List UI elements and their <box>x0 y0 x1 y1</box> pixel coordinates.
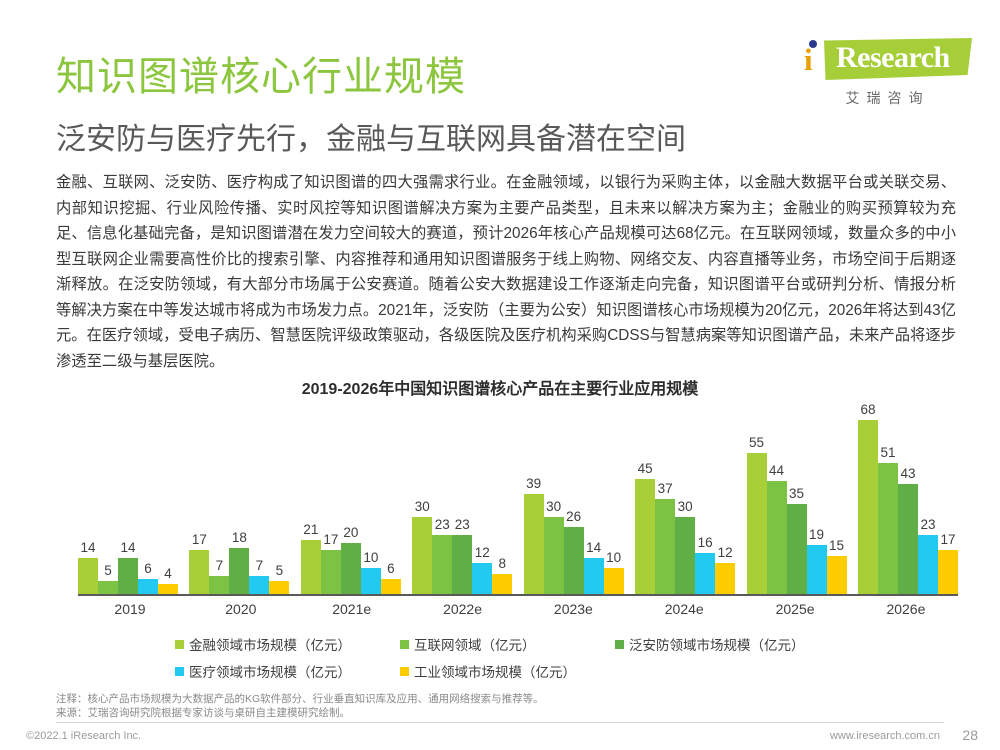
chart-bar-column[interactable]: 51 <box>878 402 898 594</box>
chart-bar-value-label: 12 <box>475 545 490 560</box>
chart-bar-column[interactable]: 30 <box>544 402 564 594</box>
chart-notes: 注释：核心产品市场规模为大数据产品的KG软件部分、行业垂直知识库及应用、通用网络… <box>56 692 544 720</box>
chart-bar[interactable] <box>432 535 452 594</box>
chart-x-label: 2024e <box>632 601 736 617</box>
legend-label: 工业领域市场规模（亿元） <box>414 661 576 681</box>
chart-bar-column[interactable]: 10 <box>361 402 381 594</box>
chart-group: 211720106 <box>301 402 401 594</box>
logo-wordmark: Research <box>836 41 950 75</box>
chart-bar-column[interactable]: 30 <box>675 402 695 594</box>
chart-bar[interactable] <box>269 581 289 594</box>
logo-letter-i: i <box>804 44 813 75</box>
chart-legend-row: 金融领域市场规模（亿元）互联网领域（亿元）泛安防领域市场规模（亿元） <box>175 634 835 654</box>
chart-group: 4537301612 <box>635 402 735 594</box>
chart-bar[interactable] <box>524 494 544 594</box>
chart-bar[interactable] <box>878 463 898 594</box>
chart-bar-value-label: 5 <box>104 563 112 578</box>
legend-swatch-icon <box>175 640 184 649</box>
chart-bar-column[interactable]: 10 <box>604 402 624 594</box>
chart-bar[interactable] <box>918 535 938 594</box>
chart-bar-value-label: 19 <box>809 527 824 542</box>
chart-bar[interactable] <box>301 540 321 594</box>
chart-bar-value-label: 21 <box>303 522 318 537</box>
chart-x-label: 2022e <box>411 601 515 617</box>
chart-bar-column[interactable]: 45 <box>635 402 655 594</box>
chart-bar-column[interactable]: 14 <box>78 402 98 594</box>
chart-bar[interactable] <box>938 550 958 594</box>
chart-bar-column[interactable]: 17 <box>321 402 341 594</box>
chart-bar[interactable] <box>787 504 807 594</box>
chart-bar[interactable] <box>361 568 381 594</box>
chart-bar-column[interactable]: 19 <box>807 402 827 594</box>
legend-label: 泛安防领域市场规模（亿元） <box>629 634 805 654</box>
chart-group: 302323128 <box>412 402 512 594</box>
chart-bar[interactable] <box>138 579 158 594</box>
chart-bar[interactable] <box>747 453 767 594</box>
chart-bar-column[interactable]: 30 <box>412 402 432 594</box>
slide-page: i Research 艾瑞咨询 知识图谱核心行业规模 泛安防与医疗先行，金融与互… <box>0 0 1000 750</box>
chart-bar-column[interactable]: 16 <box>695 402 715 594</box>
chart-bar-value-label: 8 <box>499 556 507 571</box>
chart-bar-column[interactable]: 20 <box>341 402 361 594</box>
chart-bar-column[interactable]: 14 <box>118 402 138 594</box>
chart-bar[interactable] <box>807 545 827 594</box>
chart-legend-item[interactable]: 金融领域市场规模（亿元） <box>175 634 400 654</box>
body-paragraph: 金融、互联网、泛安防、医疗构成了知识图谱的四大强需求行业。在金融领域，以银行为采… <box>56 170 956 374</box>
chart-legend-item[interactable]: 泛安防领域市场规模（亿元） <box>615 634 835 654</box>
chart-bar[interactable] <box>118 558 138 594</box>
chart-bar-column[interactable]: 37 <box>655 402 675 594</box>
page-subtitle: 泛安防与医疗先行，金融与互联网具备潜在空间 <box>56 114 686 158</box>
chart-bar-column[interactable]: 17 <box>189 402 209 594</box>
chart-x-label: 2020 <box>189 601 293 617</box>
chart-bar[interactable] <box>321 550 341 594</box>
chart-bar[interactable] <box>229 548 249 594</box>
chart-group: 3930261410 <box>524 402 624 594</box>
footer-divider <box>56 722 944 723</box>
legend-swatch-icon <box>175 667 184 676</box>
chart-group: 1771875 <box>189 402 289 594</box>
chart-bar[interactable] <box>564 527 584 594</box>
chart-bar-column[interactable]: 7 <box>209 402 229 594</box>
chart-bar[interactable] <box>452 535 472 594</box>
chart-bar-value-label: 23 <box>435 517 450 532</box>
legend-swatch-icon <box>400 640 409 649</box>
chart-bar-column[interactable]: 14 <box>584 402 604 594</box>
chart-group: 5544351915 <box>747 402 847 594</box>
chart-x-label: 2026e <box>854 601 958 617</box>
chart-bar[interactable] <box>635 479 655 594</box>
chart-bar[interactable] <box>604 568 624 594</box>
chart-bar[interactable] <box>209 576 229 594</box>
chart-bar-value-label: 15 <box>829 538 844 553</box>
chart-bar-value-label: 14 <box>586 540 601 555</box>
chart-x-axis <box>78 594 958 596</box>
chart-bar-value-label: 18 <box>232 530 247 545</box>
chart-bar-value-label: 26 <box>566 509 581 524</box>
chart-bar-column[interactable]: 17 <box>938 402 958 594</box>
chart-bar-column[interactable]: 43 <box>898 402 918 594</box>
chart-bar-value-label: 35 <box>789 486 804 501</box>
chart-bar-column[interactable]: 15 <box>827 402 847 594</box>
chart-bar-column[interactable]: 12 <box>472 402 492 594</box>
chart-legend-item[interactable]: 医疗领域市场规模（亿元） <box>175 661 400 681</box>
chart-bar-value-label: 51 <box>880 445 895 460</box>
chart-bar-column[interactable]: 6 <box>381 402 401 594</box>
note-line: 注释：核心产品市场规模为大数据产品的KG软件部分、行业垂直知识库及应用、通用网络… <box>56 692 544 706</box>
chart-bar[interactable] <box>655 499 675 594</box>
chart-x-label: 2023e <box>521 601 625 617</box>
chart-bar-column[interactable]: 5 <box>98 402 118 594</box>
chart-bar-column[interactable]: 23 <box>432 402 452 594</box>
chart-title: 2019-2026年中国知识图谱核心产品在主要行业应用规模 <box>0 375 1000 399</box>
chart-bar-value-label: 30 <box>546 499 561 514</box>
chart-bar[interactable] <box>78 558 98 594</box>
chart-bar-value-label: 12 <box>718 545 733 560</box>
chart-bar-value-label: 30 <box>415 499 430 514</box>
chart-bar[interactable] <box>858 420 878 594</box>
chart-bar[interactable] <box>492 574 512 594</box>
legend-swatch-icon <box>615 640 624 649</box>
chart-bar[interactable] <box>158 584 178 594</box>
logo-chinese-name: 艾瑞咨询 <box>796 88 972 108</box>
chart-legend-item[interactable]: 互联网领域（亿元） <box>400 634 615 654</box>
chart-x-label: 2025e <box>743 601 847 617</box>
chart-bar[interactable] <box>695 553 715 594</box>
chart-bar-column[interactable]: 55 <box>747 402 767 594</box>
chart-bar[interactable] <box>544 517 564 594</box>
chart-bar-value-label: 39 <box>526 476 541 491</box>
chart-group: 1451464 <box>78 402 178 594</box>
chart-bar-value-label: 37 <box>658 481 673 496</box>
chart-bar-value-label: 43 <box>900 466 915 481</box>
bar-chart: 1451464177187521172010630232312839302614… <box>78 402 958 594</box>
chart-bar-column[interactable]: 68 <box>858 402 878 594</box>
chart-x-tick-labels: 201920202021e2022e2023e2024e2025e2026e <box>78 601 958 617</box>
chart-bar-column[interactable]: 44 <box>767 402 787 594</box>
chart-bar-value-label: 23 <box>455 517 470 532</box>
chart-bar[interactable] <box>767 481 787 594</box>
chart-bar-value-label: 5 <box>276 563 284 578</box>
chart-bar[interactable] <box>98 581 118 594</box>
chart-bar-column[interactable]: 23 <box>918 402 938 594</box>
chart-legend-row: 医疗领域市场规模（亿元）工业领域市场规模（亿元） <box>175 661 835 681</box>
chart-bar-value-label: 7 <box>216 558 224 573</box>
chart-bar-value-label: 14 <box>80 540 95 555</box>
chart-bar[interactable] <box>189 550 209 594</box>
chart-bar-value-label: 20 <box>343 525 358 540</box>
chart-bar-value-label: 10 <box>606 550 621 565</box>
chart-bar-value-label: 14 <box>120 540 135 555</box>
chart-legend: 金融领域市场规模（亿元）互联网领域（亿元）泛安防领域市场规模（亿元）医疗领域市场… <box>175 634 835 688</box>
chart-bar-column[interactable]: 26 <box>564 402 584 594</box>
chart-bar-column[interactable]: 35 <box>787 402 807 594</box>
chart-bar-value-label: 44 <box>769 463 784 478</box>
chart-bar-column[interactable]: 4 <box>158 402 178 594</box>
chart-bar-column[interactable]: 18 <box>229 402 249 594</box>
chart-bar-column[interactable]: 5 <box>269 402 289 594</box>
logo-mark: i Research <box>796 34 972 84</box>
page-title: 知识图谱核心行业规模 <box>56 44 466 102</box>
chart-bar-value-label: 10 <box>363 550 378 565</box>
chart-bar[interactable] <box>827 556 847 594</box>
legend-label: 医疗领域市场规模（亿元） <box>189 661 351 681</box>
footer-website: www.iresearch.com.cn <box>830 730 940 742</box>
chart-bar[interactable] <box>715 563 735 594</box>
chart-bar[interactable] <box>898 484 918 594</box>
chart-bar[interactable] <box>584 558 604 594</box>
chart-bar[interactable] <box>249 576 269 594</box>
chart-bar-column[interactable]: 7 <box>249 402 269 594</box>
footer-copyright: ©2022.1 iResearch Inc. <box>26 730 141 742</box>
chart-bar-column[interactable]: 12 <box>715 402 735 594</box>
page-number: 28 <box>962 727 978 743</box>
legend-swatch-icon <box>400 667 409 676</box>
chart-bar-column[interactable]: 23 <box>452 402 472 594</box>
chart-bar-column[interactable]: 21 <box>301 402 321 594</box>
chart-x-label: 2021e <box>300 601 404 617</box>
chart-bar-value-label: 17 <box>323 532 338 547</box>
chart-bar-value-label: 45 <box>638 461 653 476</box>
chart-bar-value-label: 68 <box>860 402 875 417</box>
chart-bar-column[interactable]: 8 <box>492 402 512 594</box>
chart-bar-value-label: 23 <box>920 517 935 532</box>
iresearch-logo: i Research 艾瑞咨询 <box>796 34 972 108</box>
chart-bar[interactable] <box>381 579 401 594</box>
chart-bar[interactable] <box>341 543 361 594</box>
chart-bar-value-label: 17 <box>940 532 955 547</box>
chart-bar-column[interactable]: 6 <box>138 402 158 594</box>
chart-legend-item[interactable]: 工业领域市场规模（亿元） <box>400 661 615 681</box>
chart-bar[interactable] <box>412 517 432 594</box>
chart-bar-value-label: 7 <box>256 558 264 573</box>
chart-group: 6851432317 <box>858 402 958 594</box>
chart-bar-value-label: 4 <box>164 566 172 581</box>
legend-label: 金融领域市场规模（亿元） <box>189 634 351 654</box>
legend-label: 互联网领域（亿元） <box>414 634 536 654</box>
chart-bar-column[interactable]: 39 <box>524 402 544 594</box>
chart-bar-value-label: 6 <box>387 561 395 576</box>
chart-bar-value-label: 30 <box>678 499 693 514</box>
chart-x-label: 2019 <box>78 601 182 617</box>
chart-bar-value-label: 17 <box>192 532 207 547</box>
chart-bar[interactable] <box>675 517 695 594</box>
chart-groups: 1451464177187521172010630232312839302614… <box>78 402 958 594</box>
chart-bar-value-label: 55 <box>749 435 764 450</box>
chart-bar-value-label: 6 <box>144 561 152 576</box>
source-line: 来源：艾瑞咨询研究院根据专家访谈与桌研自主建模研究绘制。 <box>56 706 544 720</box>
chart-bar[interactable] <box>472 563 492 594</box>
chart-bar-value-label: 16 <box>698 535 713 550</box>
